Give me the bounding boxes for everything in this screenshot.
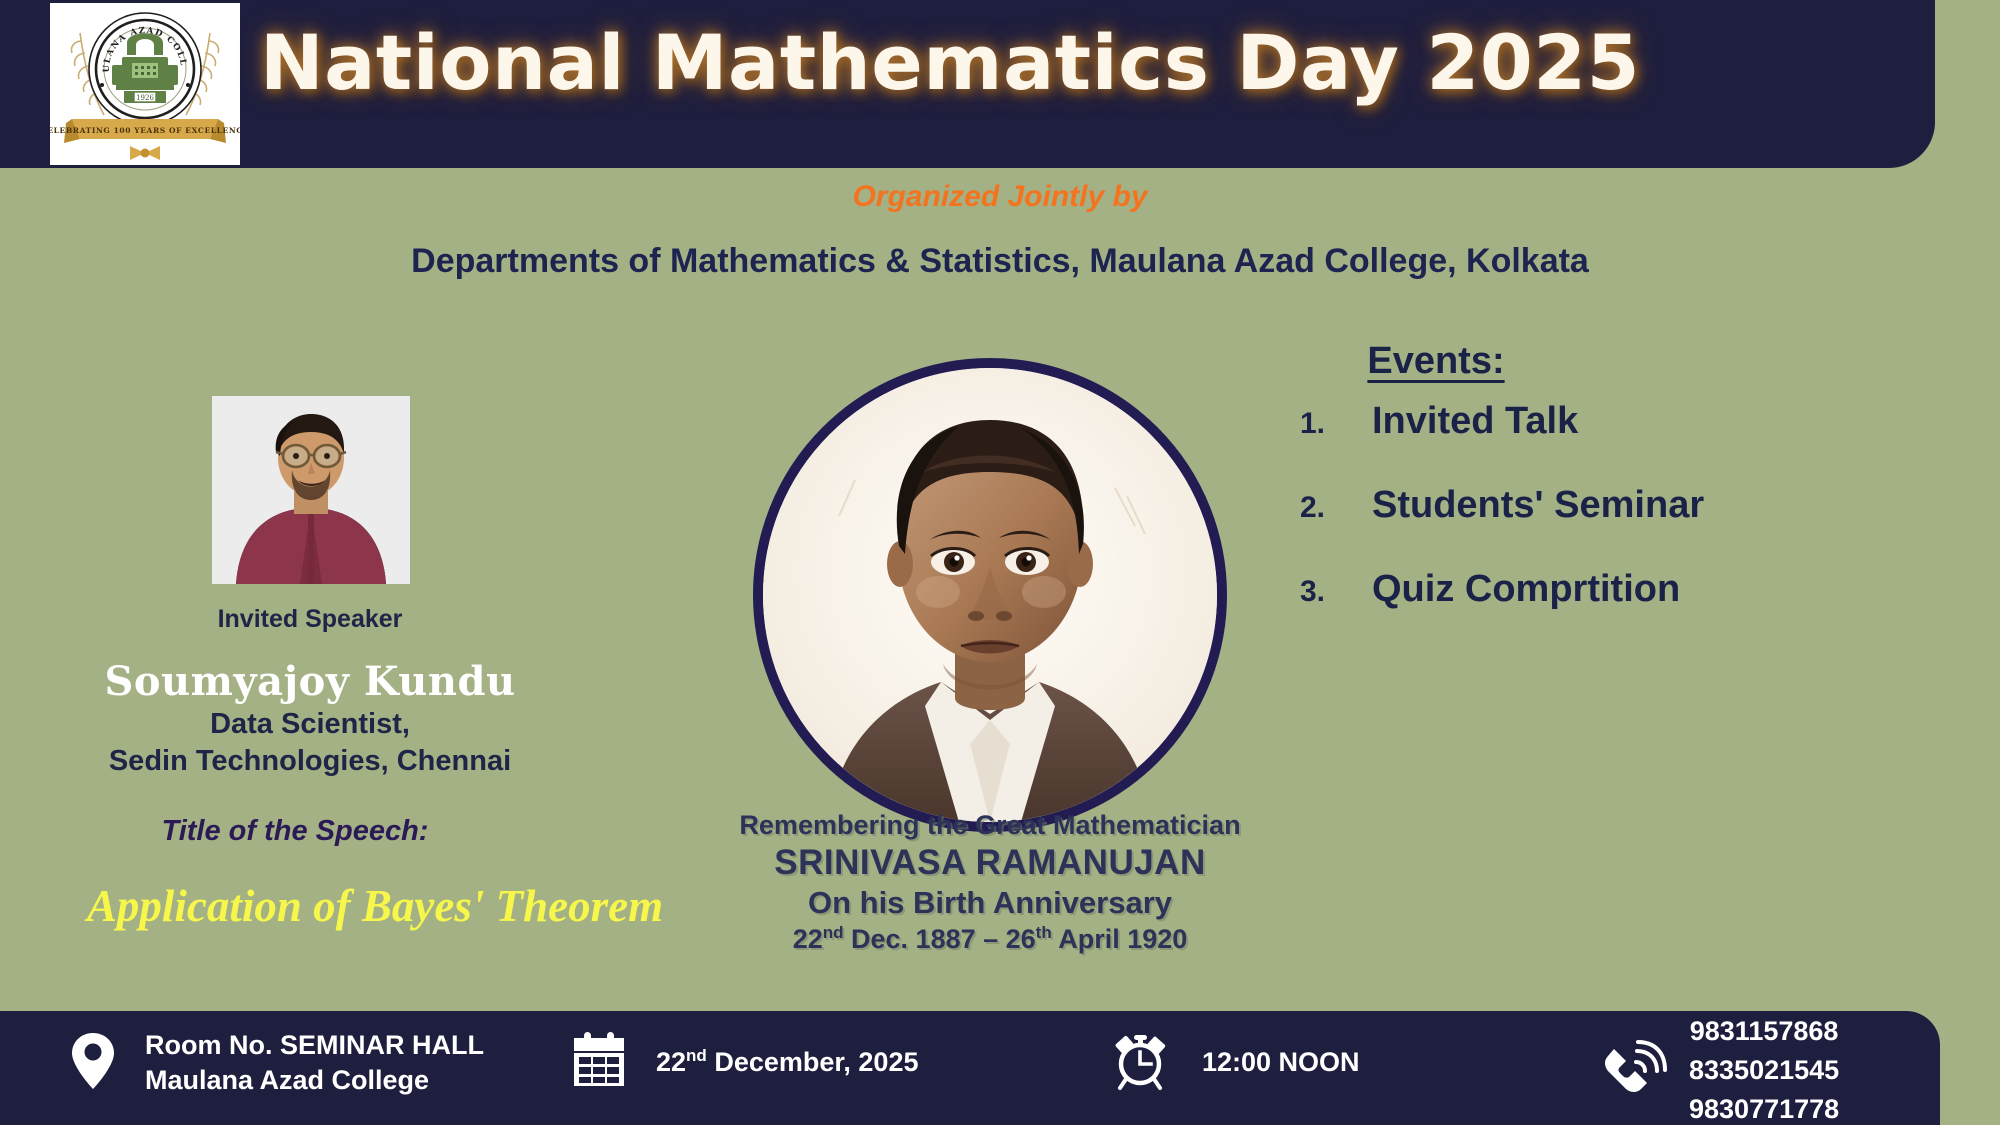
event-number: 2. [1300,491,1372,525]
college-seal-icon: 1926 MAULANA AZAD COLLEGE CELEBRATING 10… [50,3,240,165]
tribute-line-3: On his Birth Anniversary [690,885,1290,921]
phone-number: 9830771778 [1689,1090,1839,1125]
phone-numbers: 9831157868 8335021545 9830771778 [1689,1012,1839,1125]
ramanujan-portrait-image [763,368,1217,822]
logo-ribbon-text: CELEBRATING 100 YEARS OF EXCELLENCE [50,126,240,135]
speaker-photo [212,396,410,584]
time-info: 12:00 NOON [1110,1030,1360,1095]
tribute-date-prefix: 22 [793,924,823,954]
date-text: 22nd December, 2025 [656,1046,918,1078]
invited-speaker-label: Invited Speaker [60,605,560,634]
poster-root: 1926 MAULANA AZAD COLLEGE CELEBRATING 10… [0,0,2000,1125]
organizing-departments: Departments of Mathematics & Statistics,… [0,242,2000,281]
college-logo: 1926 MAULANA AZAD COLLEGE CELEBRATING 10… [50,3,240,165]
phone-ringing-icon [1595,1032,1667,1109]
event-number: 3. [1300,575,1372,609]
tribute-date-mid: Dec. 1887 – 26 [844,924,1036,954]
location-pin-icon [70,1031,116,1096]
event-number: 1. [1300,407,1372,441]
list-item: 1. Invited Talk [1300,400,1920,446]
page-title: National Mathematics Day 2025 [250,18,1650,107]
date-prefix: 22 [656,1047,686,1077]
tribute-dates: 22nd Dec. 1887 – 26th April 1920 [690,923,1290,955]
tribute-name: SRINIVASA RAMANUJAN [690,843,1290,883]
phone-number: 9831157868 [1689,1012,1839,1051]
events-list: 1. Invited Talk 2. Students' Seminar 3. … [1300,400,1920,652]
list-item: 2. Students' Seminar [1300,484,1920,530]
speaker-organization: Sedin Technologies, Chennai [40,745,580,778]
tribute-line-1: Remembering the Great Mathematician [690,810,1290,841]
event-label: Students' Seminar [1372,484,1704,527]
speaker-portrait-image [212,396,410,584]
calendar-icon [570,1030,628,1093]
event-label: Quiz Comprtition [1372,568,1680,611]
tribute-date-suffix: April 1920 [1052,924,1188,954]
date-sup: nd [686,1046,707,1065]
logo-year: 1926 [136,94,154,102]
organized-jointly-label: Organized Jointly by [0,180,2000,214]
speech-title-label: Title of the Speech: [50,815,540,848]
date-suffix: December, 2025 [707,1047,919,1077]
speaker-designation: Data Scientist, [50,708,570,741]
speech-title: Application of Bayes' Theorem [5,880,745,932]
venue-line-1: Room No. SEMINAR HALL [145,1028,484,1063]
tribute-date-sup2: th [1036,923,1052,942]
event-label: Invited Talk [1372,400,1578,443]
venue-text: Room No. SEMINAR HALL Maulana Azad Colle… [145,1028,484,1098]
events-heading: Events: [1306,340,1566,383]
list-item: 3. Quiz Comprtition [1300,568,1920,614]
tribute-date-sup1: nd [823,923,844,942]
alarm-clock-icon [1110,1030,1170,1095]
speaker-name: Soumyajoy Kundu [50,658,570,705]
phone-number: 8335021545 [1689,1051,1839,1090]
venue-info: Room No. SEMINAR HALL Maulana Azad Colle… [70,1028,484,1098]
phone-info: 9831157868 8335021545 9830771778 [1595,1012,1839,1125]
ramanujan-portrait [753,358,1227,832]
time-text: 12:00 NOON [1202,1047,1360,1078]
ramanujan-caption: Remembering the Great Mathematician SRIN… [690,810,1290,955]
date-info: 22nd December, 2025 [570,1030,918,1093]
venue-line-2: Maulana Azad College [145,1063,484,1098]
